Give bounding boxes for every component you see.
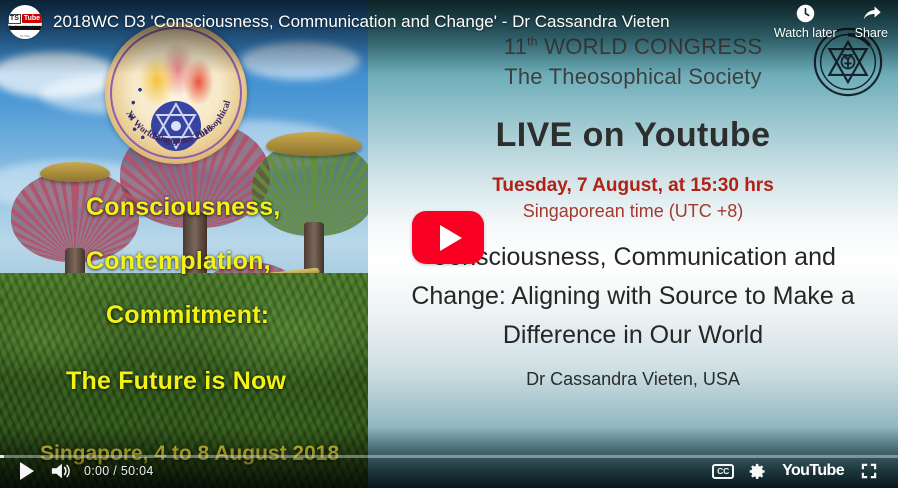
avatar-wordmark: Tube <box>22 14 42 23</box>
top-actions: Watch later Share <box>774 3 888 40</box>
gear-icon <box>748 462 767 481</box>
watch-later-button[interactable]: Watch later <box>774 3 837 40</box>
volume-icon <box>50 461 72 481</box>
volume-button[interactable] <box>44 454 78 488</box>
share-label: Share <box>855 26 888 40</box>
watch-later-label: Watch later <box>774 26 837 40</box>
controls-left-group: 0:00 / 50:04 <box>10 454 154 488</box>
youtube-wordmark[interactable]: YouTube <box>782 462 844 480</box>
live-heading: LIVE on Youtube <box>368 116 898 155</box>
fullscreen-button[interactable] <box>852 454 886 488</box>
captions-button[interactable]: CC <box>706 454 740 488</box>
avatar-initials: TS <box>8 14 21 24</box>
slide-right-info-panel: 11th WORLD CONGRESS The Theosophical Soc… <box>368 0 898 488</box>
cloud-shape <box>240 42 360 80</box>
poster-line-3: Commitment: <box>106 288 368 342</box>
play-icon <box>19 462 35 480</box>
controls-right-group: CC YouTube <box>706 454 886 488</box>
speaker-name: Dr Cassandra Vieten, USA <box>368 369 898 390</box>
fullscreen-icon <box>860 462 878 480</box>
clock-icon <box>795 3 816 25</box>
svg-text:Singapore 2018: Singapore 2018 <box>151 123 215 147</box>
poster-line-2: Contemplation, <box>86 234 368 288</box>
avatar-footer: TS Tube <box>20 35 30 38</box>
channel-avatar[interactable]: TS Tube The Theosophical Society TS Tube <box>8 5 42 39</box>
event-date: Tuesday, 7 August, at 15:30 hrs <box>368 175 898 197</box>
youtube-video-player[interactable]: XI World Congress-Theosophical Society S… <box>0 0 898 488</box>
poster-line-1: Consciousness, <box>86 180 368 234</box>
video-frame: XI World Congress-Theosophical Society S… <box>0 0 898 488</box>
video-title[interactable]: 2018WC D3 'Consciousness, Communication … <box>53 12 764 32</box>
share-arrow-icon <box>860 3 883 25</box>
player-top-bar: TS Tube The Theosophical Society TS Tube… <box>0 0 898 44</box>
youtube-play-badge-icon <box>412 211 484 264</box>
play-button[interactable] <box>10 454 44 488</box>
poster-headline: Consciousness, Contemplation, Commitment… <box>0 180 368 408</box>
time-display: 0:00 / 50:04 <box>84 464 154 478</box>
cc-icon: CC <box>712 464 734 479</box>
share-button[interactable]: Share <box>855 3 888 40</box>
slide-left-photo-panel: XI World Congress-Theosophical Society S… <box>0 0 368 488</box>
player-controls: 0:00 / 50:04 CC YouTube <box>0 454 898 488</box>
avatar-bar <box>8 26 42 30</box>
poster-line-4: The Future is Now <box>66 354 368 408</box>
settings-button[interactable] <box>740 454 774 488</box>
